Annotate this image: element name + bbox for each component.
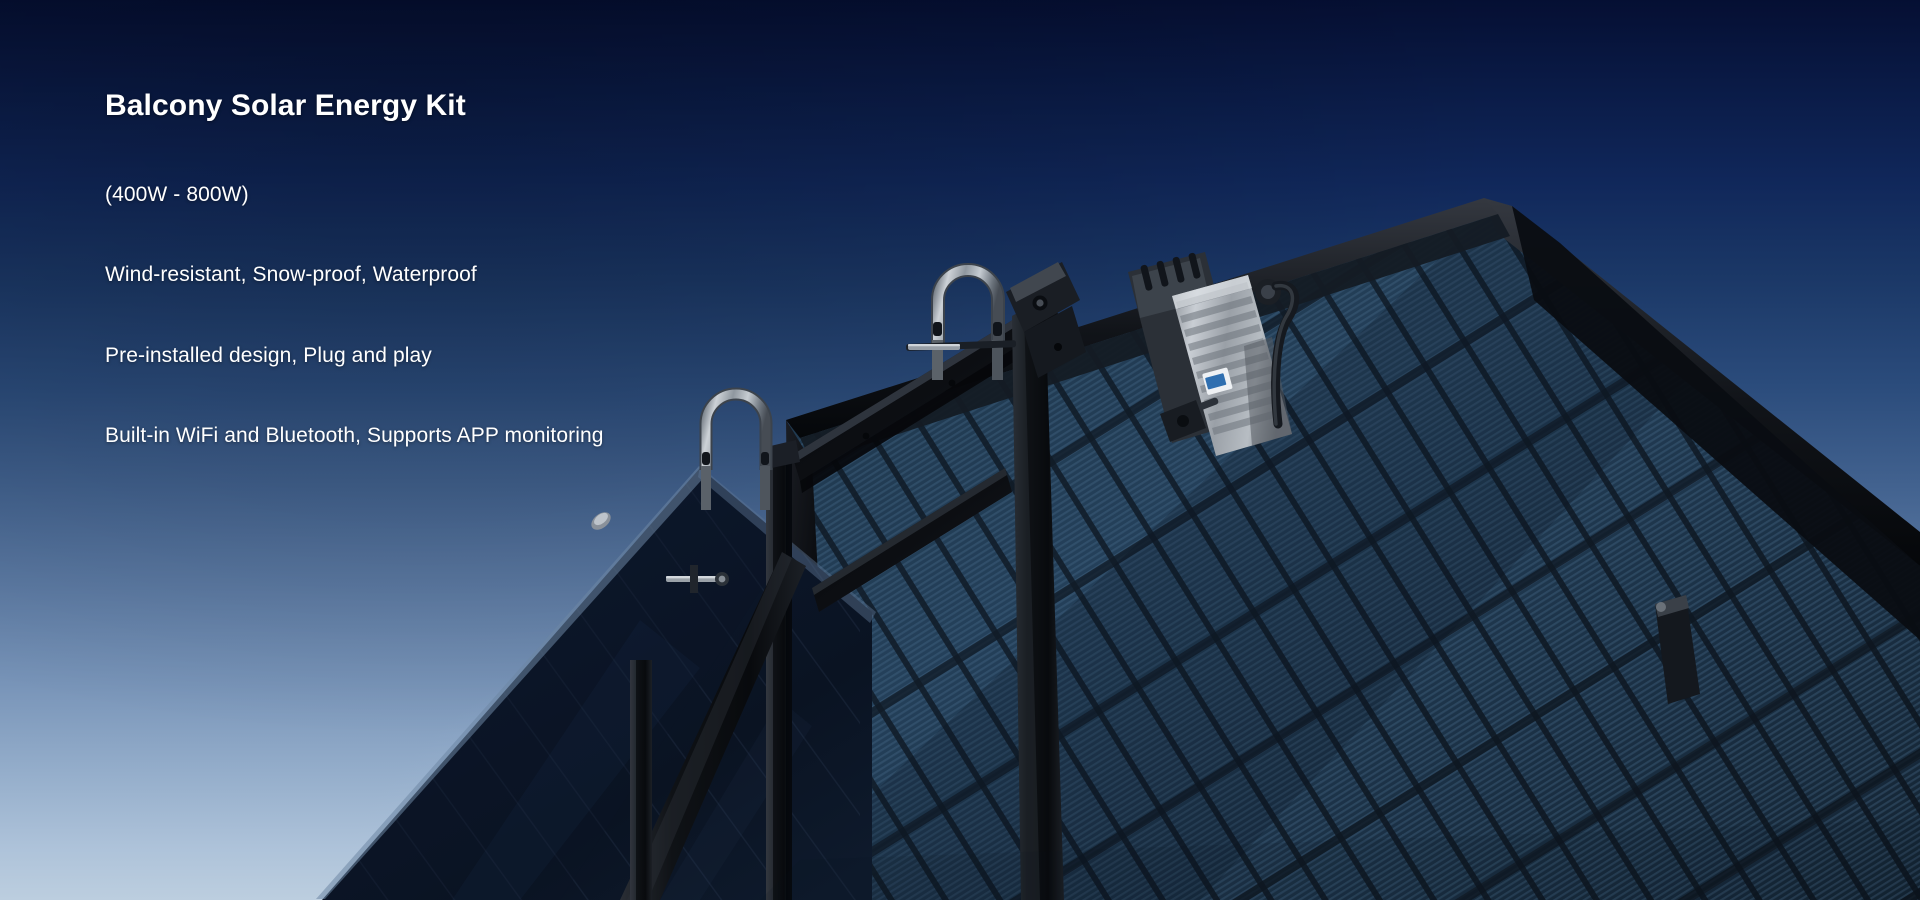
power-range-label: (400W - 800W) (105, 182, 865, 208)
feature-durability: Wind-resistant, Snow-proof, Waterproof (105, 262, 865, 288)
mounting-post-secondary (630, 660, 652, 900)
page-title: Balcony Solar Energy Kit (105, 88, 865, 124)
copy-block: Balcony Solar Energy Kit (400W - 800W) W… (105, 88, 865, 449)
feature-connectivity: Built-in WiFi and Bluetooth, Supports AP… (105, 423, 865, 449)
promo-banner: Balcony Solar Energy Kit (400W - 800W) W… (0, 0, 1920, 900)
feature-installation: Pre-installed design, Plug and play (105, 343, 865, 369)
